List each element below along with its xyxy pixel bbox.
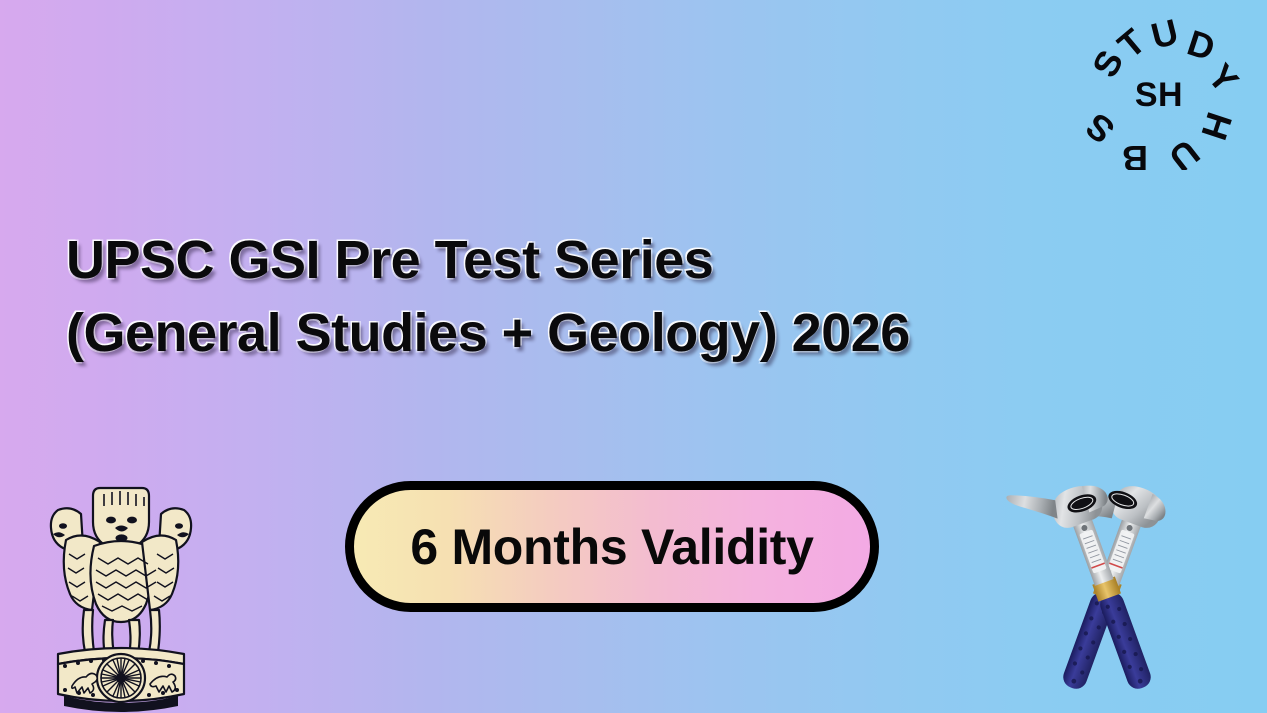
validity-badge[interactable]: 6 Months Validity <box>345 481 879 612</box>
logo-ring-letter-u2: U <box>1162 132 1208 170</box>
geology-hammers <box>985 466 1230 713</box>
logo-ring-letter-u1: U <box>1147 18 1182 57</box>
validity-badge-label: 6 Months Validity <box>410 518 813 576</box>
page-title: UPSC GSI Pre Test Series (General Studie… <box>66 224 1096 370</box>
logo-ring-letter-d: D <box>1183 22 1220 69</box>
emblem-chakra-spokes <box>101 658 141 698</box>
logo-center-text: SH <box>1135 76 1183 114</box>
india-state-emblem <box>38 470 204 713</box>
logo-ring-letter-s2: S <box>1078 105 1122 152</box>
promotional-banner: S T U D Y H U B S SH UPSC GSI Pre Test S… <box>0 0 1267 713</box>
logo-ring-letter-h: H <box>1193 108 1240 145</box>
page-title-line-1: UPSC GSI Pre Test Series <box>66 224 1096 297</box>
studyhub-logo[interactable]: S T U D Y H U B S SH <box>1073 18 1245 170</box>
hammer-2-grip <box>1097 590 1154 692</box>
logo-ring-letter-b: B <box>1122 138 1148 170</box>
hammer-2-pick-tip <box>1006 481 1062 533</box>
page-title-line-2: (General Studies + Geology) 2026 <box>66 297 1096 370</box>
